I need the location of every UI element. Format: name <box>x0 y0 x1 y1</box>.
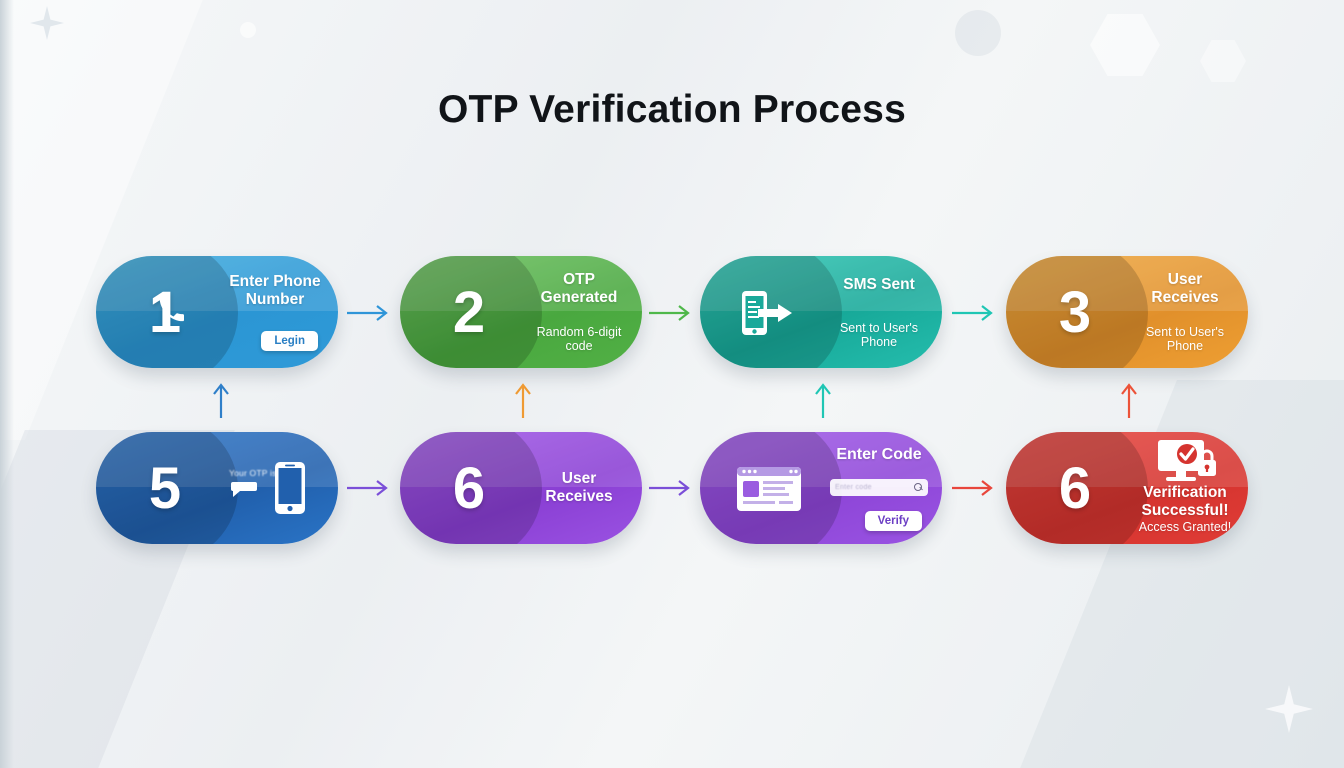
step-number: 2 <box>453 284 485 342</box>
step-card-enter-code[interactable]: Enter Code Enter code Verify <box>700 432 942 544</box>
step-card-6[interactable]: 6 User Receives <box>400 432 642 544</box>
step-number: 6 <box>1059 460 1091 518</box>
step-body-success: Verification Successful! Access Granted! <box>1134 432 1248 544</box>
step-subtitle: Sent to User's Phone <box>830 321 928 349</box>
step-card-success[interactable]: 6 Verification Successful! Access Grante… <box>1006 432 1248 544</box>
step-body-enter-code: Enter Code Enter code Verify <box>828 432 942 544</box>
step-body-6: User Receives <box>528 432 642 544</box>
step-badge-success: 6 <box>1006 432 1148 544</box>
arrow-right-3-to-4 <box>950 303 996 323</box>
step-number: 6 <box>453 460 485 518</box>
step-title: Enter Phone Number <box>226 273 324 309</box>
phone-message-bubble-icon: Your OTP is... <box>229 460 321 516</box>
arrow-right-to-success <box>950 478 996 498</box>
step-badge-sms <box>700 256 842 368</box>
search-icon <box>914 483 923 492</box>
step-badge-6: 6 <box>400 432 542 544</box>
login-button[interactable]: Legin <box>261 331 318 351</box>
browser-window-icon <box>733 462 805 516</box>
step-number: 3 <box>1059 284 1091 342</box>
arrow-up-col-3 <box>813 382 833 420</box>
arrow-right-2-to-3 <box>647 303 693 323</box>
step-badge-5: 5 <box>96 432 238 544</box>
step-title: User Receives <box>1136 271 1234 307</box>
step-title: Enter Code <box>836 446 921 464</box>
step-card-1[interactable]: 1 Enter Phone Number Legin <box>96 256 338 368</box>
step-badge-1: 1 <box>96 256 238 368</box>
step-body-5: Your OTP is... <box>224 432 338 544</box>
step-body-2: OTP Generated Random 6-digit code <box>528 256 642 368</box>
code-input-placeholder: Enter code <box>835 484 872 491</box>
step-title: Verification Successful! <box>1136 484 1234 520</box>
arrow-right-5-to-6 <box>345 478 391 498</box>
verify-button[interactable]: Verify <box>865 511 922 531</box>
step-body-3: User Receives Sent to User's Phone <box>1134 256 1248 368</box>
step-card-2[interactable]: 2 OTP Generated Random 6-digit code <box>400 256 642 368</box>
step-subtitle: Access Granted! <box>1139 520 1231 534</box>
step-card-3[interactable]: 3 User Receives Sent to User's Phone <box>1006 256 1248 368</box>
arrow-up-col-1 <box>211 382 231 420</box>
step-number: 5 <box>149 460 181 518</box>
phone-handset-icon <box>154 290 194 330</box>
arrow-up-col-2 <box>513 382 533 420</box>
code-input[interactable]: Enter code <box>830 479 928 496</box>
step-body-1: Enter Phone Number Legin <box>224 256 338 368</box>
step-badge-3: 3 <box>1006 256 1148 368</box>
arrow-right-1-to-2 <box>345 303 391 323</box>
step-card-5[interactable]: 5 Your OTP is... <box>96 432 338 544</box>
step-title: OTP Generated <box>530 271 628 307</box>
arrow-right-6-to-enter-code <box>647 478 693 498</box>
step-subtitle: Random 6-digit code <box>530 325 628 353</box>
step-body-sms: SMS Sent Sent to User's Phone <box>828 256 942 368</box>
step-badge-enter-code <box>700 432 842 544</box>
phone-send-arrow-icon <box>736 287 802 339</box>
step-title: SMS Sent <box>843 276 914 294</box>
step-subtitle: Sent to User's Phone <box>1136 325 1234 353</box>
monitor-check-lock-icon <box>1142 438 1222 486</box>
step-badge-2: 2 <box>400 256 542 368</box>
step-title: User Receives <box>530 470 628 506</box>
flow-diagram: 1 Enter Phone Number Legin 2 OTP Generat… <box>0 0 1344 768</box>
arrow-up-col-4 <box>1119 382 1139 420</box>
step-card-sms-sent[interactable]: SMS Sent Sent to User's Phone <box>700 256 942 368</box>
